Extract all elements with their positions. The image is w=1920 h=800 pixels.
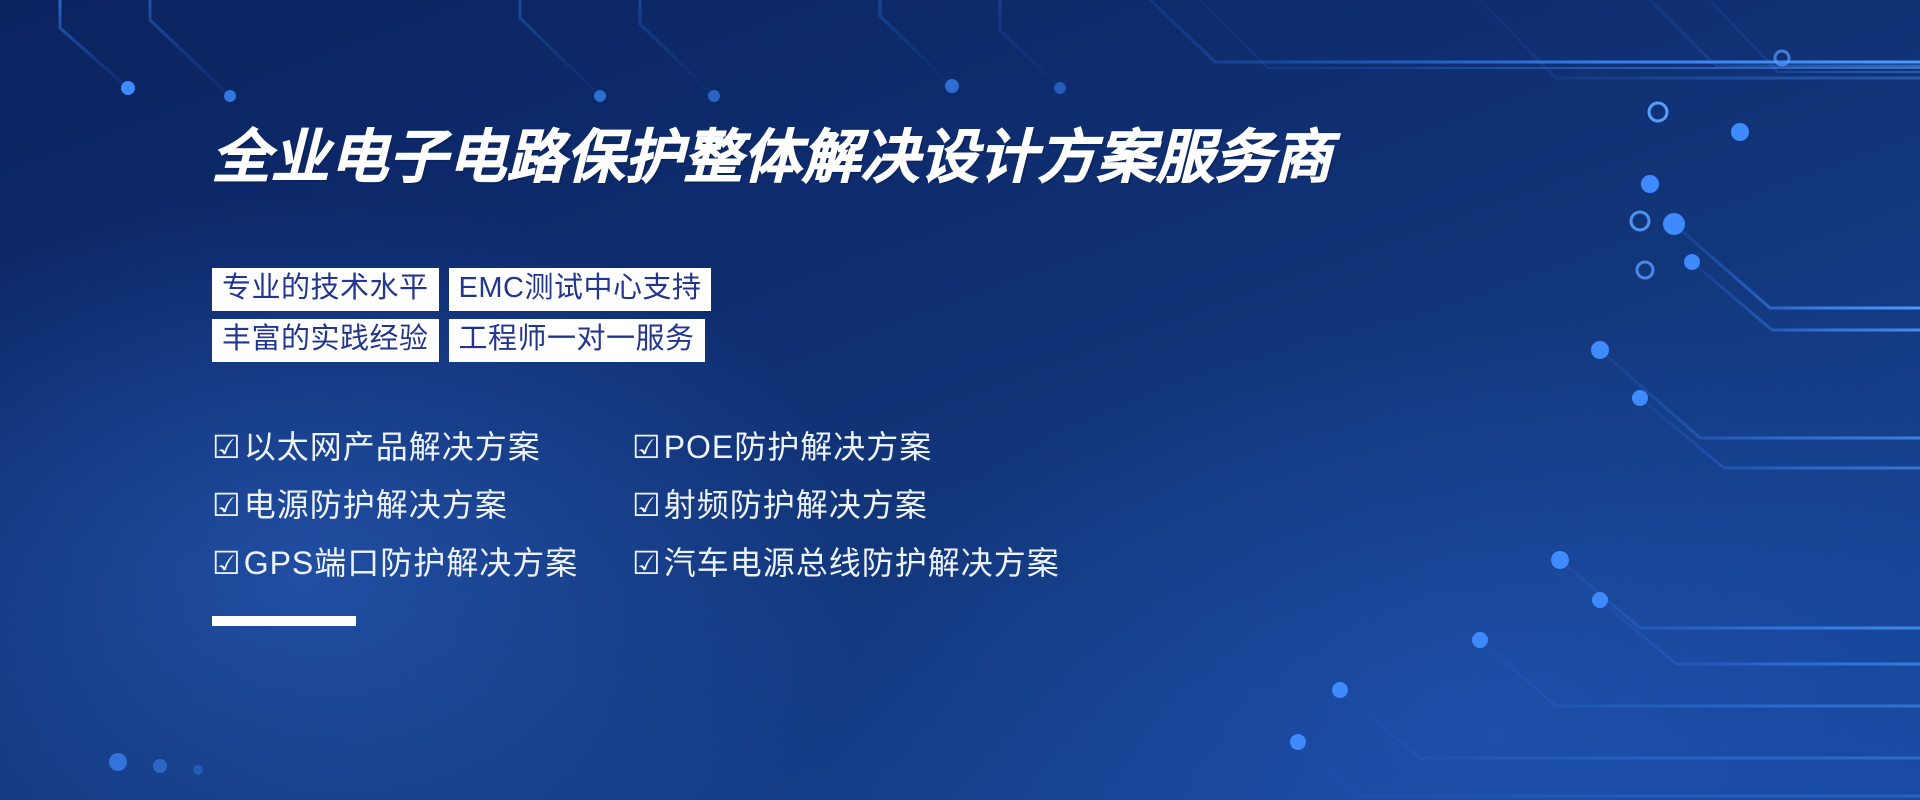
checkbox-checked-icon: ☑ — [632, 482, 662, 528]
checkbox-checked-icon: ☑ — [632, 540, 662, 586]
feature-tag: 丰富的实践经验 — [212, 319, 439, 362]
promo-banner: 全业电子电路保护整体解决设计方案服务商 专业的技术水平 EMC测试中心支持 丰富… — [0, 0, 1920, 800]
list-item: ☑射频防护解决方案 — [632, 482, 1060, 528]
checkbox-checked-icon: ☑ — [632, 424, 662, 470]
list-item: ☑以太网产品解决方案 — [212, 424, 632, 470]
list-item: ☑汽车电源总线防护解决方案 — [632, 540, 1060, 586]
list-item-label: 电源防护解决方案 — [244, 487, 508, 523]
checkbox-checked-icon: ☑ — [212, 482, 242, 528]
feature-tag-row: 丰富的实践经验 工程师一对一服务 — [212, 319, 711, 362]
feature-tag-list: 专业的技术水平 EMC测试中心支持 丰富的实践经验 工程师一对一服务 — [212, 268, 711, 370]
feature-tag: EMC测试中心支持 — [449, 268, 712, 311]
list-item: ☑GPS端口防护解决方案 — [212, 540, 632, 586]
feature-tag: 专业的技术水平 — [212, 268, 439, 311]
list-item-label: 射频防护解决方案 — [664, 487, 928, 523]
feature-tag-row: 专业的技术水平 EMC测试中心支持 — [212, 268, 711, 311]
list-item-label: 汽车电源总线防护解决方案 — [664, 545, 1060, 581]
solution-checklist: ☑以太网产品解决方案 ☑POE防护解决方案 ☑电源防护解决方案 ☑射频防护解决方… — [212, 424, 1060, 586]
accent-underline — [212, 616, 356, 626]
page-title: 全业电子电路保护整体解决设计方案服务商 — [212, 126, 1333, 190]
list-item-label: GPS端口防护解决方案 — [244, 545, 579, 581]
banner-content: 全业电子电路保护整体解决设计方案服务商 专业的技术水平 EMC测试中心支持 丰富… — [212, 0, 1412, 800]
feature-tag: 工程师一对一服务 — [449, 319, 705, 362]
checkbox-checked-icon: ☑ — [212, 424, 242, 470]
list-item: ☑电源防护解决方案 — [212, 482, 632, 528]
list-item-label: POE防护解决方案 — [664, 429, 933, 465]
list-item-label: 以太网产品解决方案 — [244, 429, 541, 465]
list-item: ☑POE防护解决方案 — [632, 424, 1060, 470]
checkbox-checked-icon: ☑ — [212, 540, 242, 586]
